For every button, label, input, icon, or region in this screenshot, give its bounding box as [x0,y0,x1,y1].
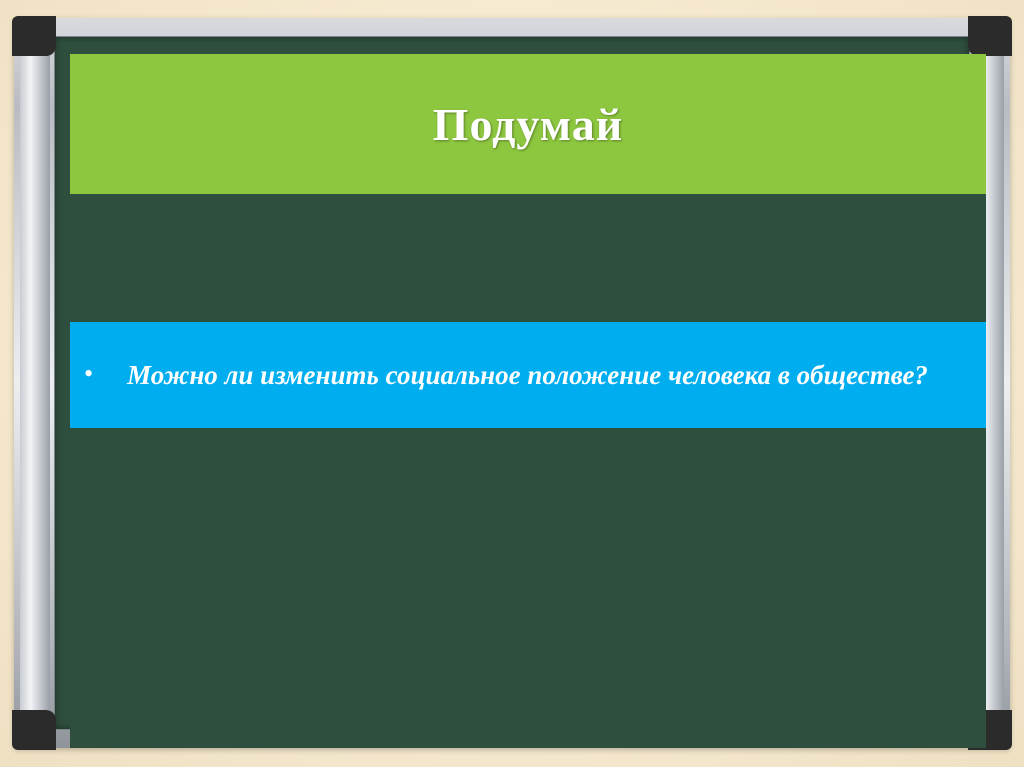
frame-corner-top-left [12,16,56,56]
slide-content-band: • Можно ли изменить социальное положение… [70,322,986,428]
chalkboard-surface: Подумай • Можно ли изменить социальное п… [70,54,986,748]
slide-title-band: Подумай [70,54,986,194]
bullet-text: Можно ли изменить социальное положение ч… [109,356,966,394]
frame-corner-bottom-left [12,710,56,750]
frame-rail-left [20,32,50,734]
slide-canvas: Подумай • Можно ли изменить социальное п… [0,0,1024,767]
bullet-marker-icon: • [84,358,93,390]
page-title: Подумай [433,98,624,151]
list-item: • Можно ли изменить социальное положение… [70,356,986,394]
chalkboard-frame: Подумай • Можно ли изменить социальное п… [14,18,1010,748]
frame-corner-top-right [968,16,1012,56]
